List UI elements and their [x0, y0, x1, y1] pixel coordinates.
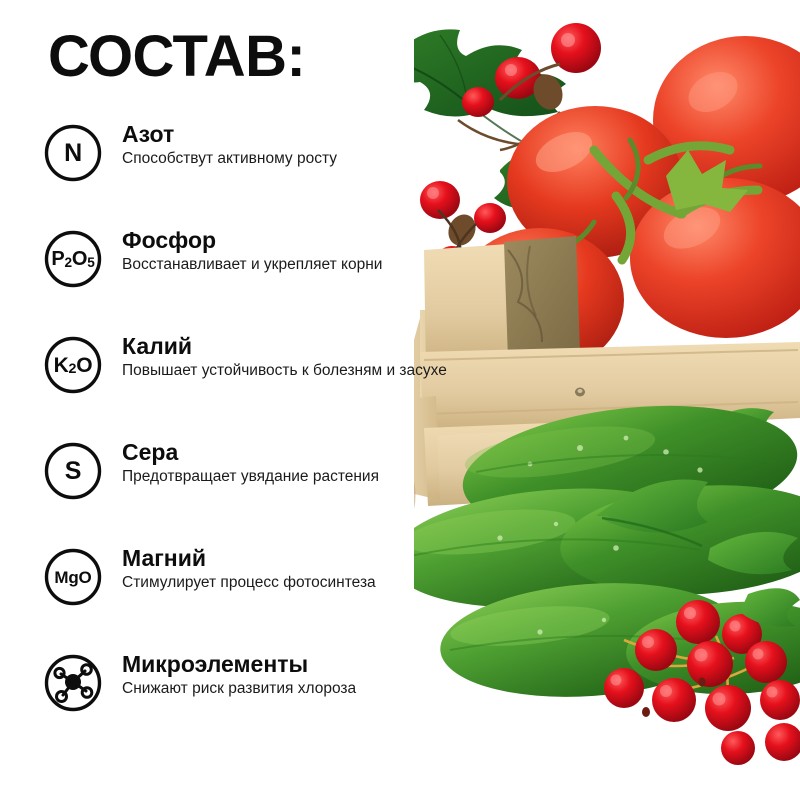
nitrogen-badge-icon: N [44, 124, 102, 182]
ingredient-text: Сера Предотвращает увядание растения [122, 440, 472, 487]
magnesium-badge-icon: MgO [44, 548, 102, 606]
ingredient-name: Азот [122, 122, 472, 148]
ingredient-item-nitrogen: N Азот Способствут активному росту [44, 124, 464, 230]
ingredient-description: Восстанавливает и укрепляет корни [122, 255, 472, 275]
ingredient-text: Калий Повышает устойчивость к болезням и… [122, 334, 472, 381]
ingredient-description: Снижают риск развития хлороза [122, 679, 472, 699]
ingredient-description: Способствут активному росту [122, 149, 472, 169]
potassium-symbol: K2O [44, 336, 102, 394]
nitrogen-symbol: N [44, 124, 102, 182]
currant-cluster [604, 588, 800, 765]
page-title: СОСТАВ: [48, 28, 305, 86]
leaf-cluster-mid [596, 480, 798, 575]
tomato-cluster [456, 36, 800, 372]
sulfur-badge-icon: S [44, 442, 102, 500]
ingredient-item-potassium: K2O Калий Повышает устойчивость к болезн… [44, 336, 464, 442]
ingredient-description: Предотвращает увядание растения [122, 467, 472, 487]
ingredient-list: N Азот Способствут активному росту P2O5 … [44, 124, 464, 760]
parsley-sprig [680, 408, 792, 480]
ingredient-name: Калий [122, 334, 472, 360]
ingredient-name: Сера [122, 440, 472, 466]
ingredient-description: Повышает устойчивость к болезням и засух… [122, 361, 472, 381]
molecule-icon [44, 654, 102, 712]
ingredient-name: Микроэлементы [122, 652, 472, 678]
phosphorus-badge-icon: P2O5 [44, 230, 102, 288]
phosphorus-symbol: P2O5 [44, 230, 102, 288]
ingredient-text: Магний Стимулирует процесс фотосинтеза [122, 546, 472, 593]
currant-berries [604, 600, 800, 765]
ingredient-text: Азот Способствут активному росту [122, 122, 472, 169]
ingredient-text: Микроэлементы Снижают риск развития хлор… [122, 652, 472, 699]
ingredient-item-phosphorus: P2O5 Фосфор Восстанавливает и укрепляет … [44, 230, 464, 336]
ingredient-name: Фосфор [122, 228, 472, 254]
potassium-badge-icon: K2O [44, 336, 102, 394]
sulfur-symbol: S [44, 442, 102, 500]
poster-root: СОСТАВ: N Азот Способствут активному рос… [0, 0, 800, 800]
ingredient-name: Магний [122, 546, 472, 572]
ingredient-item-microelements: Микроэлементы Снижают риск развития хлор… [44, 654, 464, 760]
ingredient-description: Стимулирует процесс фотосинтеза [122, 573, 472, 593]
ingredient-item-magnesium: MgO Магний Стимулирует процесс фотосинте… [44, 548, 464, 654]
magnesium-symbol: MgO [44, 548, 102, 606]
ingredient-item-sulfur: S Сера Предотвращает увядание растения [44, 442, 464, 548]
ingredient-text: Фосфор Восстанавливает и укрепляет корни [122, 228, 472, 275]
